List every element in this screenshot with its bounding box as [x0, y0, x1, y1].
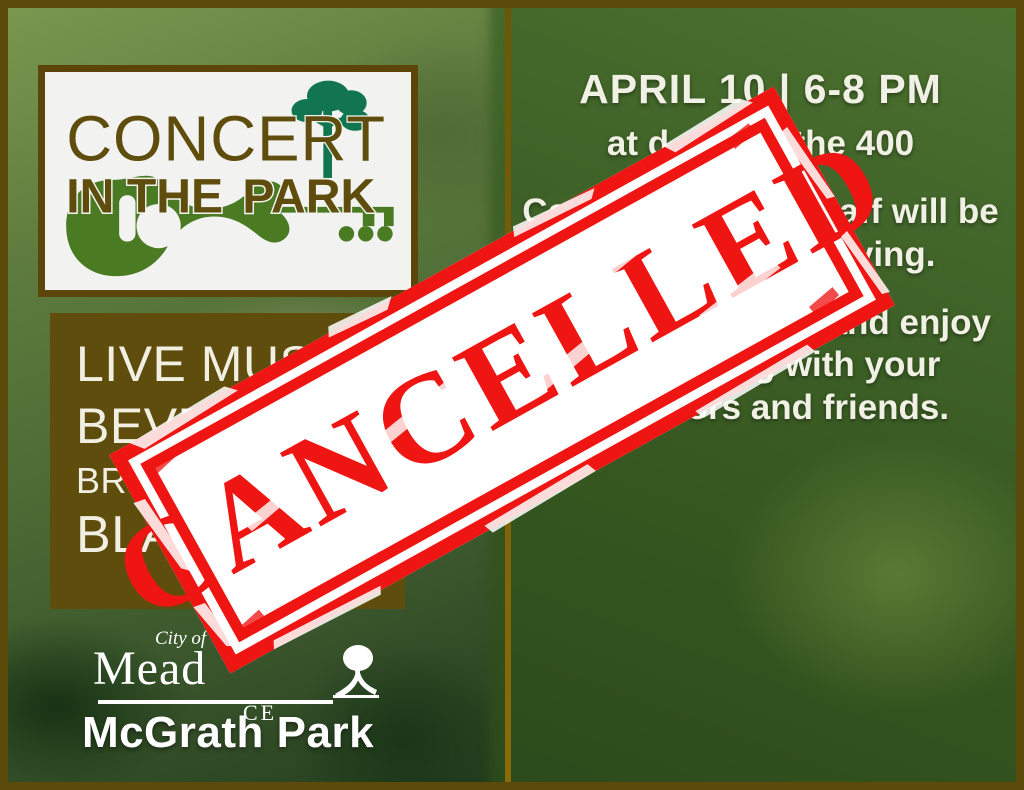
guitar-peg	[339, 226, 354, 241]
concert-in-the-park-logo: CONCERT IN THE PARK	[38, 65, 418, 297]
guitar-peg	[377, 226, 392, 241]
feature-blanket: BLANKET	[76, 509, 316, 561]
logo-text-the: THE	[127, 170, 223, 224]
logo-text-park: PARK	[242, 170, 375, 224]
description-paragraph-3: Bring your family and enjoy the evening …	[519, 302, 1002, 429]
feature-bring-chair: BRING A CHAIR OR	[76, 463, 414, 499]
logo-text-concert: CONCERT	[66, 104, 386, 175]
logo-artwork: CONCERT IN THE PARK	[45, 72, 411, 295]
event-description: at d and to the 400 Council and City sta…	[519, 123, 1002, 429]
guitar-peg	[358, 226, 373, 241]
left-column: CONCERT IN THE PARK LIVE MUSIC BEVERAGES…	[8, 8, 505, 782]
city-logo-rule	[98, 700, 333, 704]
logo-text-in: IN	[66, 170, 114, 224]
city-logo: City of Mead CE	[93, 628, 363, 708]
city-logo-name: Mead	[93, 641, 206, 696]
right-column: APRIL 10 | 6-8 PM at d and to the 400 Co…	[505, 8, 1016, 782]
event-features-box: LIVE MUSIC BEVERAGES BRING A CHAIR OR BL…	[50, 313, 405, 609]
tree-icon	[325, 638, 387, 710]
event-poster: CONCERT IN THE PARK LIVE MUSIC BEVERAGES…	[0, 0, 1024, 790]
feature-live-music: LIVE MUSIC	[76, 339, 364, 389]
description-paragraph-2: Council and City staff will be cooking a…	[519, 191, 1002, 276]
feature-beverages: BEVERAGES	[76, 401, 389, 451]
description-paragraph-1: at d and to the 400	[519, 123, 1002, 165]
event-datetime-headline: APRIL 10 | 6-8 PM	[505, 66, 1016, 113]
park-name: McGrath Park	[8, 708, 448, 758]
